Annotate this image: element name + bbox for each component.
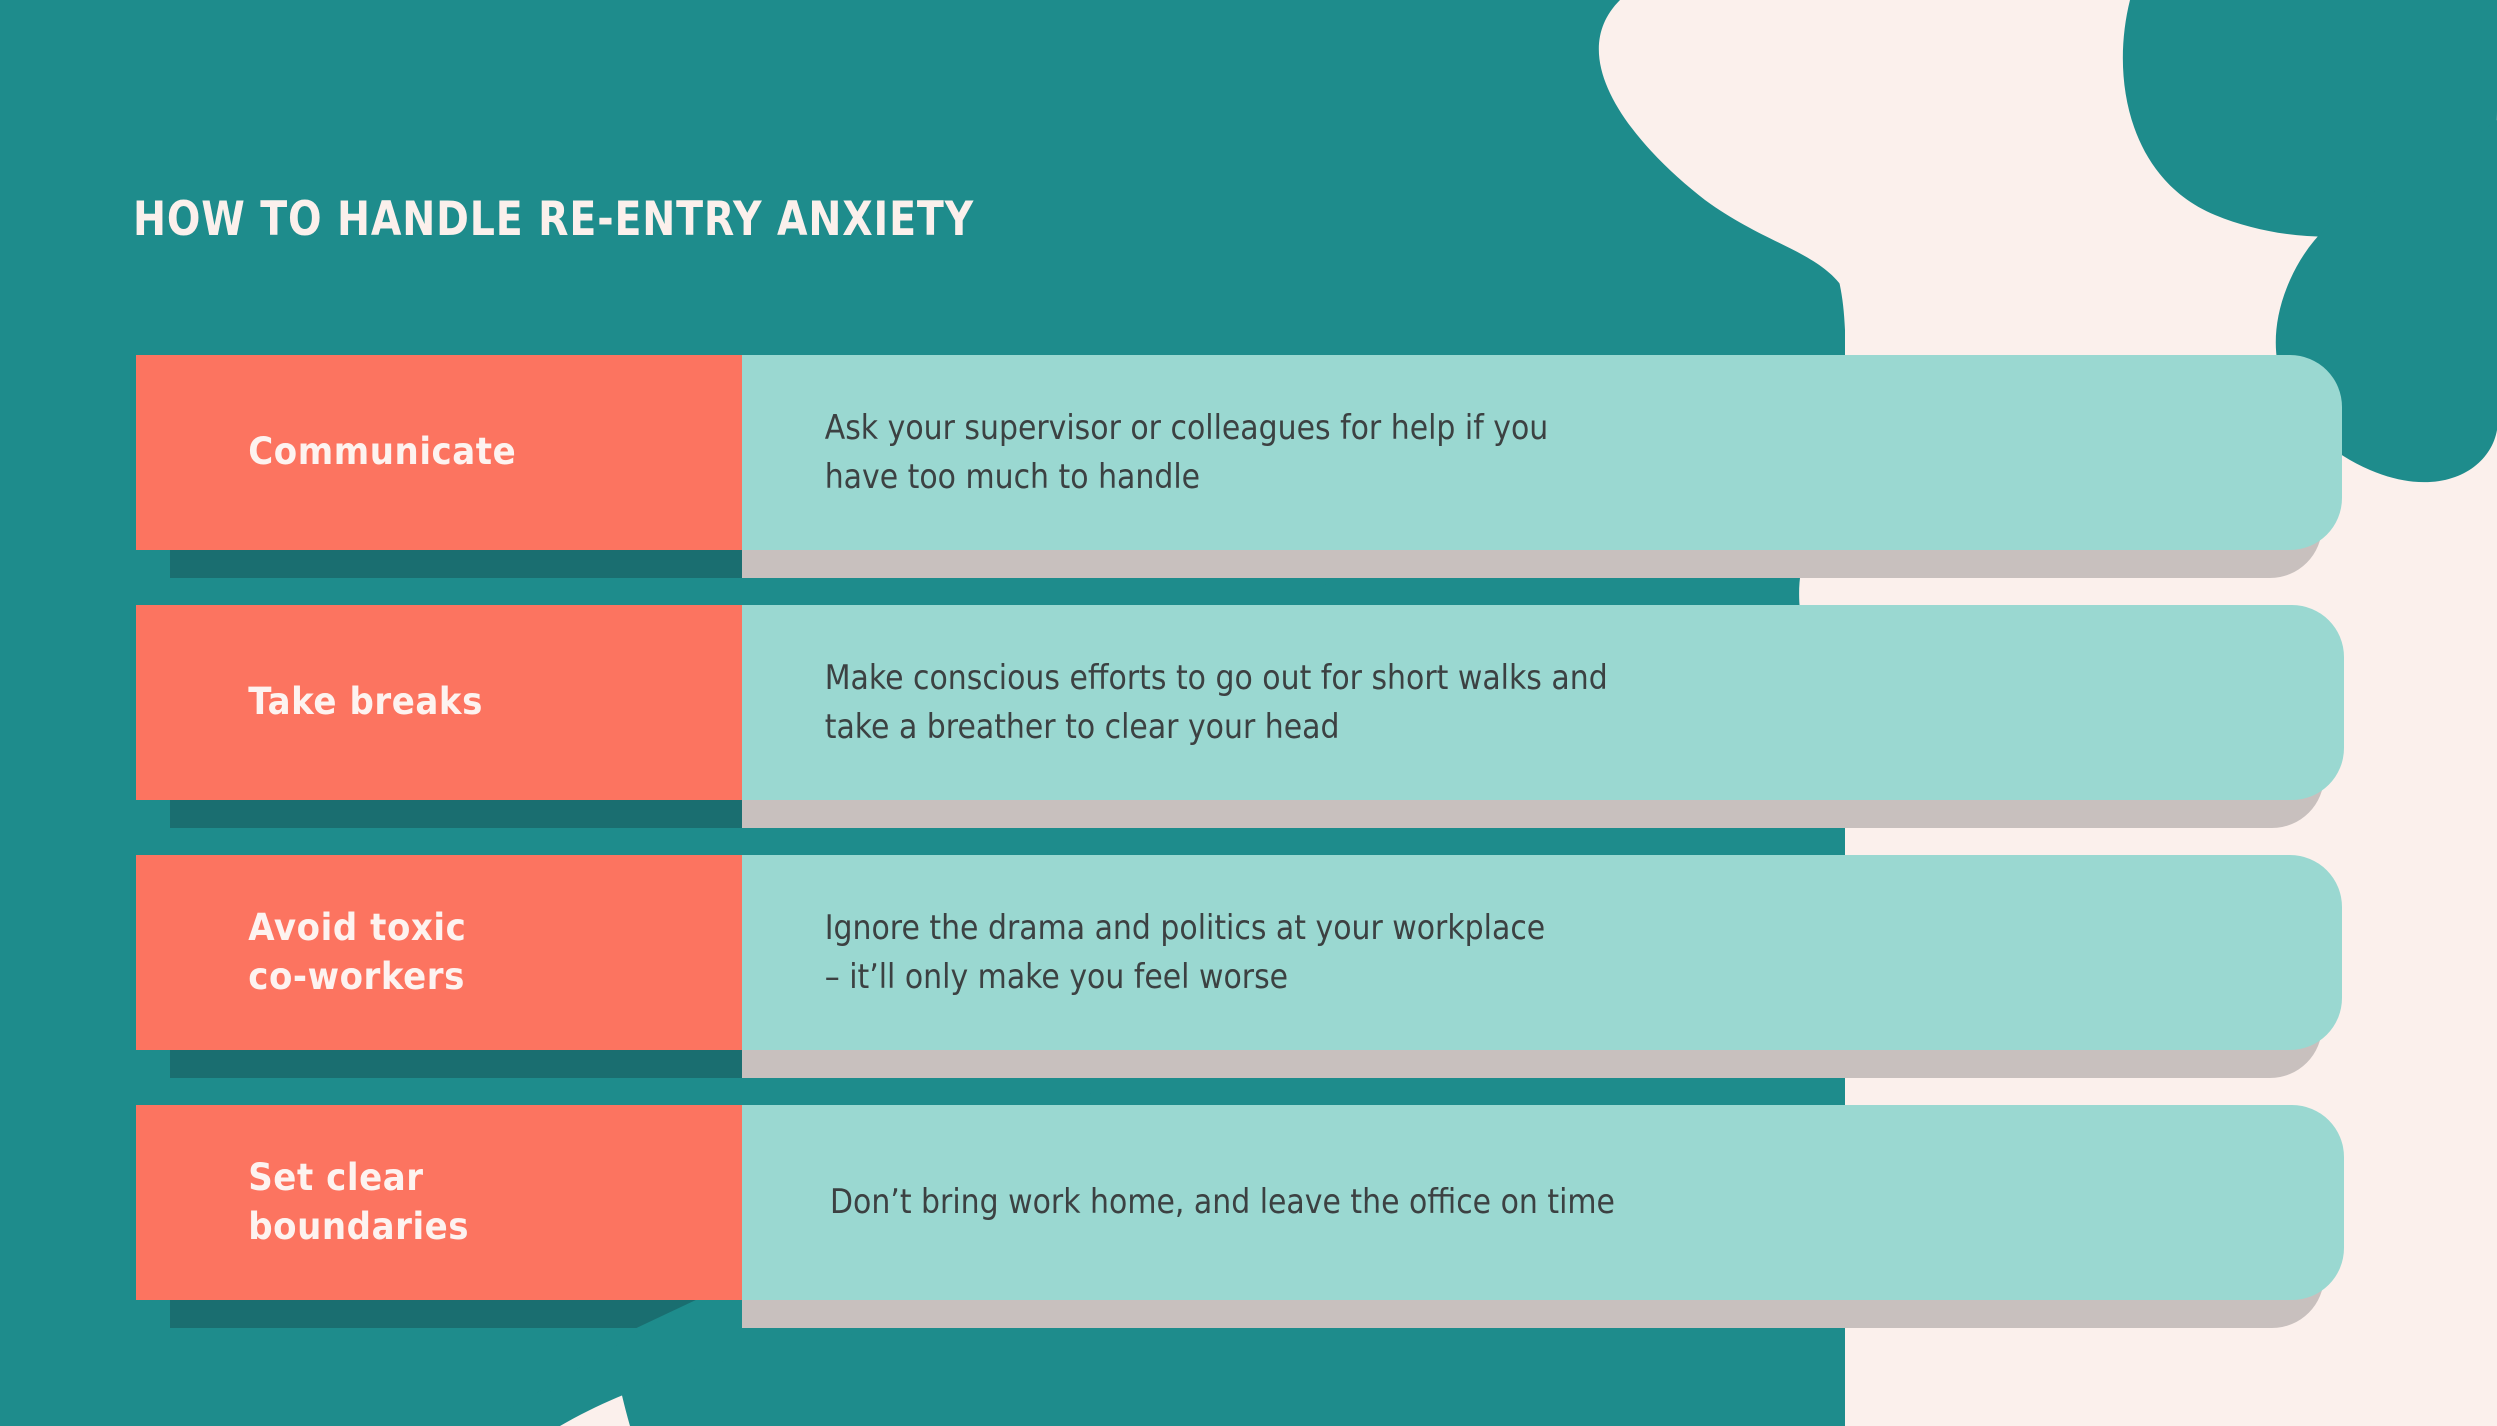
tip-label-text: Avoid toxic co-workers (136, 904, 694, 1000)
infographic-canvas: HOW TO HANDLE RE-ENTRY ANXIETY Communica… (0, 0, 2497, 1426)
row-fold-dark (170, 1298, 700, 1328)
tip-label-card[interactable]: Communicate (136, 355, 742, 550)
tip-label-card[interactable]: Avoid toxic co-workers (136, 855, 742, 1050)
tip-description-card[interactable]: Ask your supervisor or colleagues for he… (742, 355, 2342, 550)
tip-label-card[interactable]: Take breaks (136, 605, 742, 800)
tip-description-text: Ignore the drama and politics at your wo… (742, 904, 2150, 1001)
tip-label-text: Take breaks (136, 678, 694, 726)
tip-description-card[interactable]: Ignore the drama and politics at your wo… (742, 855, 2342, 1050)
tip-description-text: Don’t bring work home, and leave the off… (742, 1178, 2152, 1226)
tip-description-text: Make conscious efforts to go out for sho… (742, 654, 2152, 751)
tip-description-card[interactable]: Make conscious efforts to go out for sho… (742, 605, 2344, 800)
tip-description-card[interactable]: Don’t bring work home, and leave the off… (742, 1105, 2344, 1300)
page-title: HOW TO HANDLE RE-ENTRY ANXIETY (133, 196, 1309, 243)
tip-label-text: Set clear boundaries (136, 1154, 694, 1250)
tip-label-text: Communicate (136, 428, 694, 476)
tip-label-card[interactable]: Set clear boundaries (136, 1105, 742, 1300)
tip-description-text: Ask your supervisor or colleagues for he… (742, 404, 2150, 501)
